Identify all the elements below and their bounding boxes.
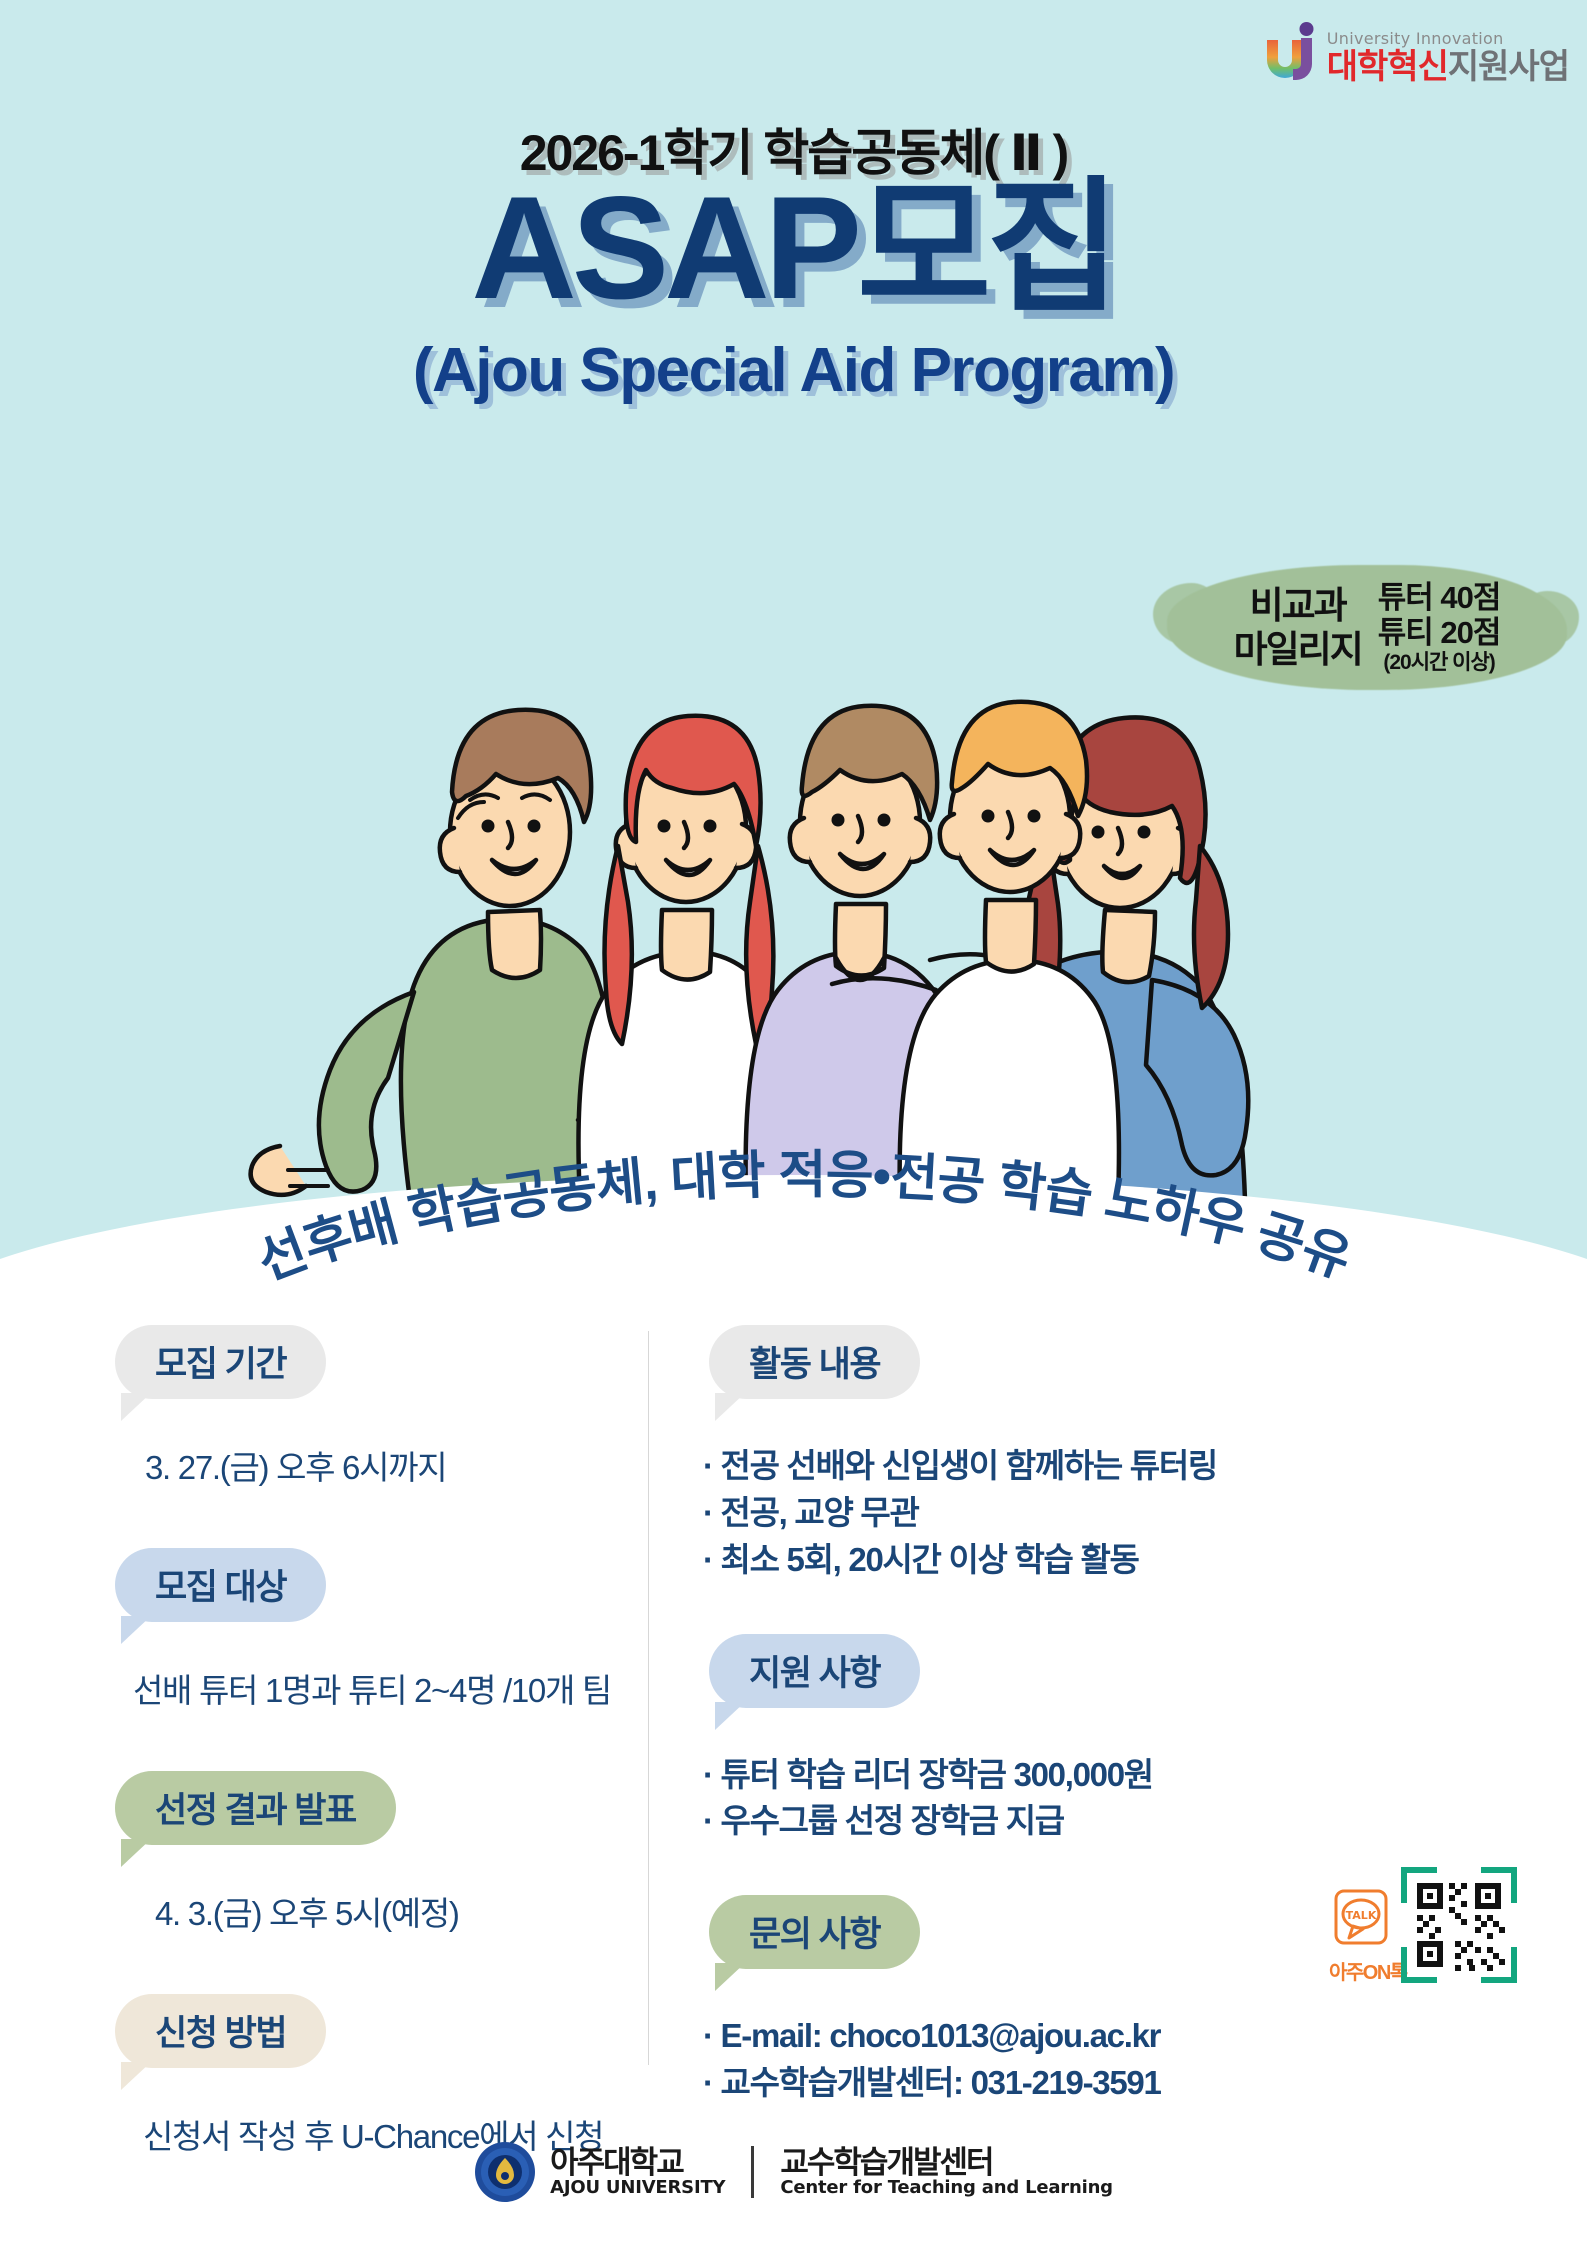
english-subtitle: (Ajou Special Aid Program) bbox=[0, 335, 1587, 406]
university-name: 아주대학교 AJOU UNIVERSITY bbox=[550, 2147, 725, 2197]
center-name-kr: 교수학습개발센터 bbox=[780, 2147, 1113, 2179]
recruitment-period-value: 3. 27.(금) 오후 6시까지 bbox=[145, 1445, 620, 1492]
kakao-talk-icon: TALK bbox=[1333, 1888, 1389, 1950]
kakao-talk-group[interactable]: TALK 아주ON톡 bbox=[1329, 1888, 1393, 1985]
ui-logo-korean-gray: 지원사업 bbox=[1448, 48, 1569, 86]
bubble-application-method: 신청 방법 bbox=[115, 1994, 326, 2068]
phone-line[interactable]: · 교수학습개발센터: 031-219-3591 bbox=[703, 2060, 1527, 2107]
bubble-recruitment-target: 모집 대상 bbox=[115, 1548, 326, 1622]
mileage-label-line2: 마일리지 bbox=[1234, 629, 1362, 670]
bubble-activity-content: 활동 내용 bbox=[709, 1325, 920, 1399]
bubble-selection-announcement: 선정 결과 발표 bbox=[115, 1771, 396, 1845]
ui-logo-english: University Innovation bbox=[1327, 31, 1569, 47]
mileage-note: (20시간 이상) bbox=[1378, 651, 1501, 675]
recruitment-target-value: 선배 튜터 1명과 튜티 2~4명 /10개 팀 bbox=[133, 1668, 620, 1715]
university-name-en: AJOU UNIVERSITY bbox=[550, 2179, 725, 2197]
center-name-en: Center for Teaching and Learning bbox=[780, 2179, 1113, 2197]
university-name-kr: 아주대학교 bbox=[550, 2147, 725, 2179]
kakao-talk-label: 아주ON톡 bbox=[1329, 1956, 1393, 1985]
university-innovation-logo: University Innovation 대학혁신지원사업 bbox=[1261, 22, 1569, 84]
mileage-label: 비교과 마일리지 bbox=[1234, 584, 1362, 671]
ui-brand-mark-icon bbox=[1261, 22, 1319, 84]
list-item: · 전공, 교양 무관 bbox=[703, 1490, 1527, 1537]
column-divider bbox=[648, 1331, 649, 2065]
qr-code[interactable] bbox=[1399, 1865, 1519, 1985]
svg-text:TALK: TALK bbox=[1346, 1909, 1377, 1922]
ui-logo-korean: 대학혁신지원사업 bbox=[1327, 50, 1569, 84]
footer: 아주대학교 AJOU UNIVERSITY 교수학습개발센터 Center fo… bbox=[0, 2141, 1587, 2203]
right-column: 활동 내용 · 전공 선배와 신입생이 함께하는 튜터링 · 전공, 교양 무관… bbox=[677, 1325, 1527, 2095]
list-item: · 튜터 학습 리더 장학금 300,000원 bbox=[703, 1752, 1527, 1799]
activity-content-list: · 전공 선배와 신입생이 함께하는 튜터링 · 전공, 교양 무관 · 최소 … bbox=[703, 1443, 1527, 1584]
left-column: 모집 기간 3. 27.(금) 오후 6시까지 모집 대상 선배 튜터 1명과 … bbox=[95, 1325, 620, 2095]
mileage-values: 튜터 40점 튜티 20점 (20시간 이상) bbox=[1378, 580, 1501, 675]
list-item: · 전공 선배와 신입생이 함께하는 튜터링 bbox=[703, 1443, 1527, 1490]
details-section: 모집 기간 3. 27.(금) 오후 6시까지 모집 대상 선배 튜터 1명과 … bbox=[95, 1325, 1527, 2095]
poster-root: University Innovation 대학혁신지원사업 2026-1학기 … bbox=[0, 0, 1587, 2245]
mileage-label-line1: 비교과 bbox=[1250, 585, 1346, 626]
center-name: 교수학습개발센터 Center for Teaching and Learnin… bbox=[780, 2147, 1113, 2197]
selection-announcement-value: 4. 3.(금) 오후 5시(예정) bbox=[155, 1891, 620, 1938]
students-illustration bbox=[110, 560, 1340, 1260]
page-title: ASAP모집 bbox=[0, 175, 1587, 321]
inquiry-list: · E-mail: choco1013@ajou.ac.kr · 교수학습개발센… bbox=[703, 2013, 1527, 2107]
mileage-tutor-points: 튜터 40점 bbox=[1378, 580, 1501, 616]
footer-divider bbox=[751, 2146, 754, 2198]
list-item: · 최소 5회, 20시간 이상 학습 활동 bbox=[703, 1537, 1527, 1584]
ui-logo-korean-red: 대학혁신 bbox=[1327, 48, 1448, 86]
support-details-list: · 튜터 학습 리더 장학금 300,000원 · 우수그룹 선정 장학금 지급 bbox=[703, 1752, 1527, 1846]
mileage-badge: 비교과 마일리지 튜터 40점 튜티 20점 (20시간 이상) bbox=[1167, 565, 1567, 690]
bubble-support-details: 지원 사항 bbox=[709, 1634, 920, 1708]
mileage-tutee-points: 튜티 20점 bbox=[1378, 615, 1501, 651]
bubble-inquiry: 문의 사항 bbox=[709, 1895, 920, 1969]
mileage-brush-shape bbox=[1167, 565, 1567, 690]
email-line[interactable]: · E-mail: choco1013@ajou.ac.kr bbox=[703, 2013, 1527, 2060]
qr-block[interactable]: TALK 아주ON톡 bbox=[1329, 1865, 1519, 1985]
bubble-recruitment-period: 모집 기간 bbox=[115, 1325, 326, 1399]
list-item: · 우수그룹 선정 장학금 지급 bbox=[703, 1798, 1527, 1845]
ajou-university-seal-icon bbox=[474, 2141, 536, 2203]
